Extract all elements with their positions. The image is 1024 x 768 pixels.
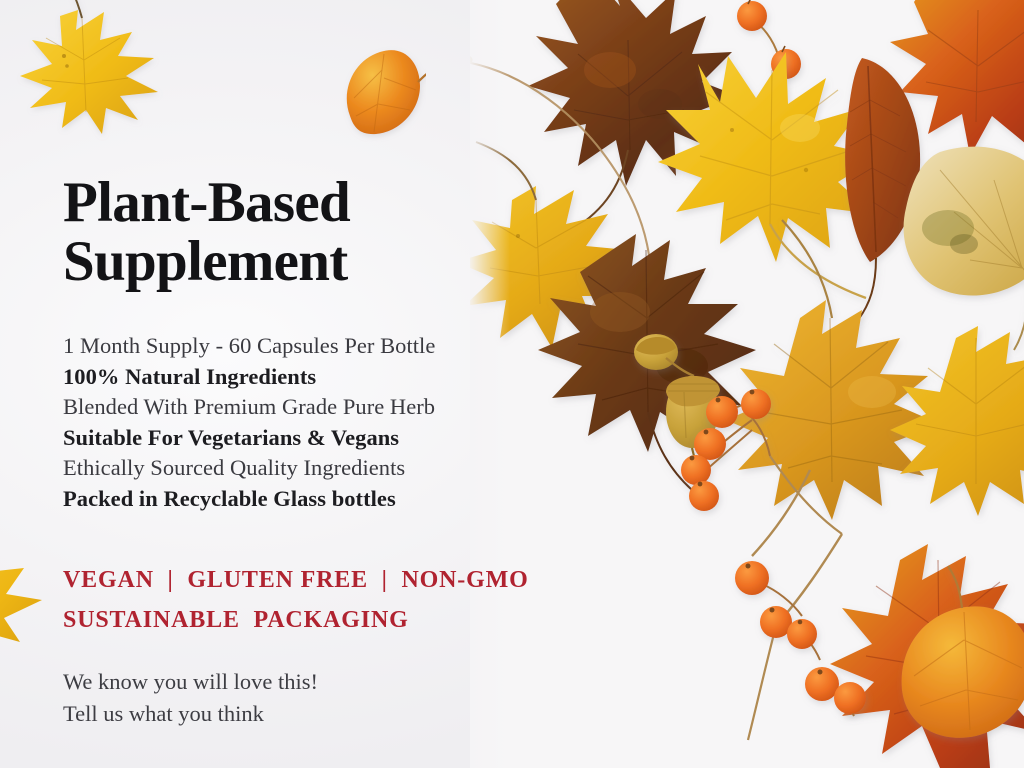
page-title: Plant-Based Supplement <box>63 174 350 291</box>
poster-canvas: Plant-Based Supplement 1 Month Supply - … <box>0 0 1024 768</box>
autumn-leaves-photo <box>470 0 1024 768</box>
claim-line-packaging: SUSTAINABLE PACKAGING <box>63 600 533 640</box>
outro-line: We know you will love this! <box>63 666 503 698</box>
benefit-item: Blended With Premium Grade Pure Herb <box>63 392 533 423</box>
benefits-list: 1 Month Supply - 60 Capsules Per Bottle … <box>63 331 533 515</box>
benefit-item: 100% Natural Ingredients <box>63 362 533 393</box>
outro-line: Tell us what you think <box>63 698 503 730</box>
benefit-item: Ethically Sourced Quality Ingredients <box>63 453 533 484</box>
text-content-column: Plant-Based Supplement 1 Month Supply - … <box>63 0 543 768</box>
benefit-item: 1 Month Supply - 60 Capsules Per Bottle <box>63 331 533 362</box>
claim-line-dietary: VEGAN | GLUTEN FREE | NON-GMO <box>63 560 533 600</box>
benefit-item: Suitable For Vegetarians & Vegans <box>63 423 533 454</box>
benefit-item: Packed in Recyclable Glass bottles <box>63 484 533 515</box>
leaf-yellow-edge-left <box>0 524 58 654</box>
outro-message: We know you will love this! Tell us what… <box>63 666 503 730</box>
certification-claims: VEGAN | GLUTEN FREE | NON-GMO SUSTAINABL… <box>63 560 533 640</box>
